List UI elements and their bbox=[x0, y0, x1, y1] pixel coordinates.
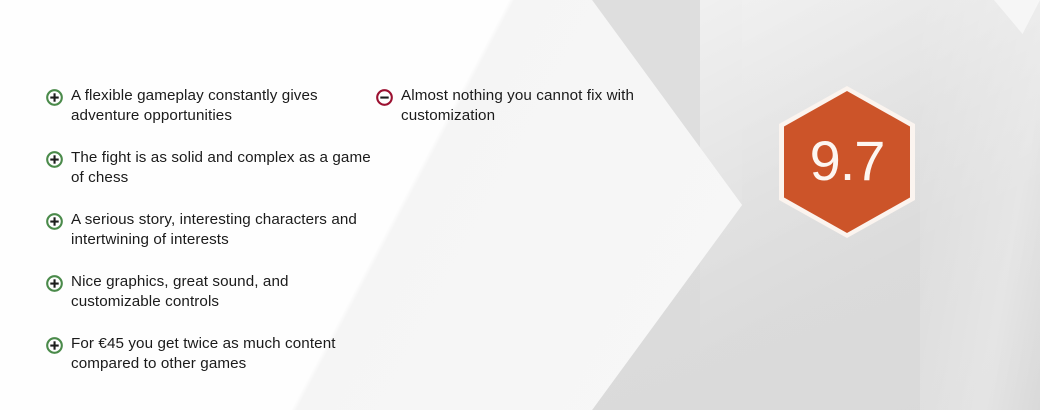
plus-circle-icon bbox=[46, 213, 63, 230]
plus-circle-icon bbox=[46, 151, 63, 168]
pro-item-text: The fight is as solid and complex as a g… bbox=[71, 148, 376, 188]
minus-circle-icon bbox=[376, 89, 393, 106]
pro-item-text: Nice graphics, great sound, and customiz… bbox=[71, 272, 376, 312]
card-content: A flexible gameplay constantly gives adv… bbox=[0, 0, 1040, 410]
pro-item-text: For €45 you get twice as much content co… bbox=[71, 334, 376, 374]
cons-list: Almost nothing you cannot fix with custo… bbox=[376, 86, 666, 126]
plus-circle-icon bbox=[46, 337, 63, 354]
pro-item: A flexible gameplay constantly gives adv… bbox=[46, 86, 376, 126]
pro-item: The fight is as solid and complex as a g… bbox=[46, 148, 376, 188]
pros-list: A flexible gameplay constantly gives adv… bbox=[46, 86, 376, 374]
pro-item: Nice graphics, great sound, and customiz… bbox=[46, 272, 376, 312]
con-item: Almost nothing you cannot fix with custo… bbox=[376, 86, 666, 126]
pro-item-text: A serious story, interesting characters … bbox=[71, 210, 376, 250]
pro-item-text: A flexible gameplay constantly gives adv… bbox=[71, 86, 376, 126]
pro-item: For €45 you get twice as much content co… bbox=[46, 334, 376, 374]
con-item-text: Almost nothing you cannot fix with custo… bbox=[401, 86, 666, 126]
plus-circle-icon bbox=[46, 89, 63, 106]
score-value: 9.7 bbox=[810, 133, 885, 189]
score-badge: 9.7 bbox=[779, 86, 915, 238]
plus-circle-icon bbox=[46, 275, 63, 292]
review-verdict-card: A flexible gameplay constantly gives adv… bbox=[0, 0, 1040, 410]
pro-item: A serious story, interesting characters … bbox=[46, 210, 376, 250]
